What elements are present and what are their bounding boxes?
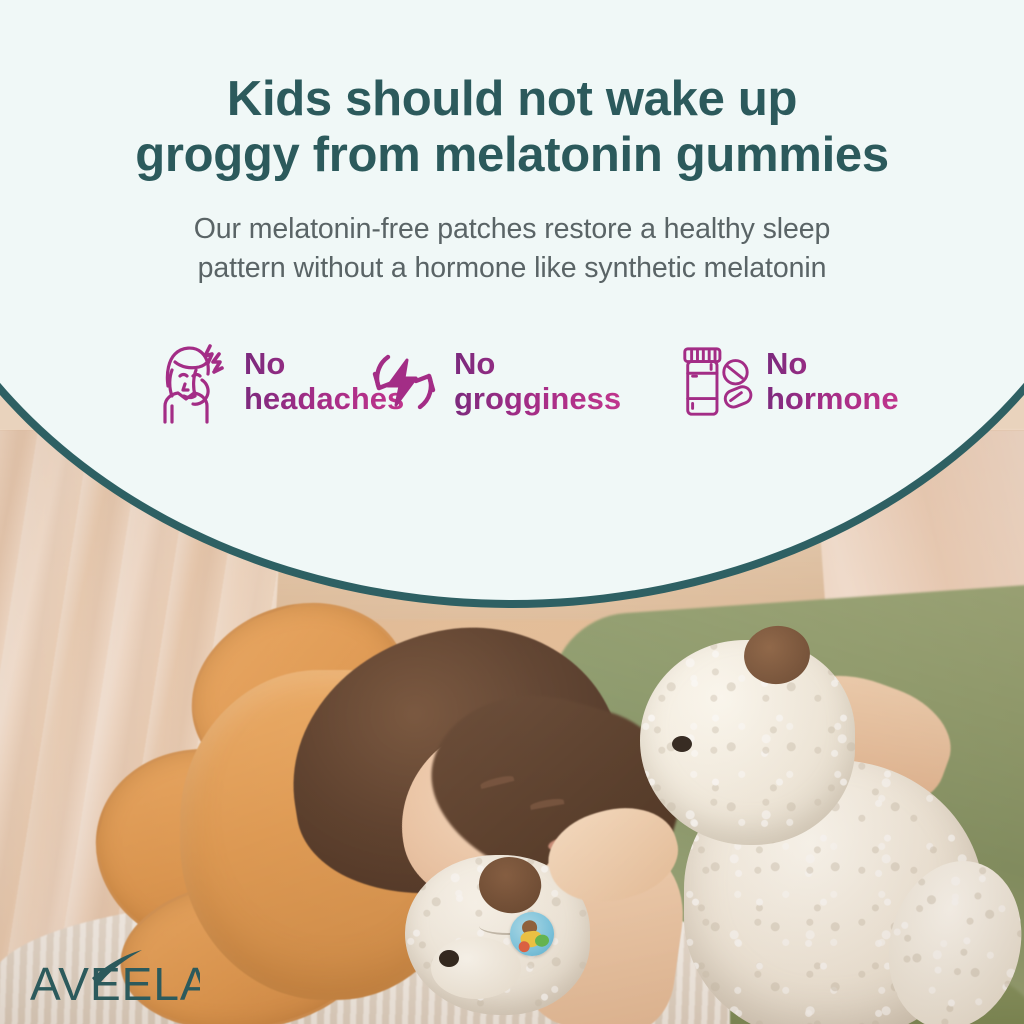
plush-nose (439, 950, 459, 967)
patch-art (534, 934, 550, 948)
patch-art (518, 940, 530, 952)
large-teddy-bear (640, 640, 1024, 1024)
benefit-label: No grogginess (454, 347, 621, 416)
headline-line-1: Kids should not wake up (0, 72, 1024, 128)
pill-bottle-icon (677, 338, 755, 426)
benefit-label: No hormone (766, 347, 899, 416)
plush-snout (431, 937, 521, 999)
brand-logo: AVEELA (30, 948, 200, 1006)
subhead-line-2: pattern without a hormone like synthetic… (0, 249, 1024, 288)
headline-line-2: groggy from melatonin gummies (0, 128, 1024, 184)
brand-name: AVEELA (30, 958, 200, 1006)
page-subtitle: Our melatonin-free patches restore a hea… (0, 210, 1024, 289)
headache-person-icon (155, 338, 233, 426)
aveela-logotype: AVEELA (30, 948, 200, 1006)
refresh-lightning-icon (365, 338, 443, 426)
benefit-no-hormone: No hormone (665, 338, 965, 426)
benefit-no-grogginess: No grogginess (365, 338, 665, 426)
subhead-line-1: Our melatonin-free patches restore a hea… (0, 210, 1024, 249)
page-title: Kids should not wake up groggy from mela… (0, 0, 1024, 184)
benefits-row: No headaches No grogginess (0, 338, 1024, 426)
benefit-no-headaches: No headaches (59, 338, 365, 426)
teddy-nose (672, 736, 692, 752)
